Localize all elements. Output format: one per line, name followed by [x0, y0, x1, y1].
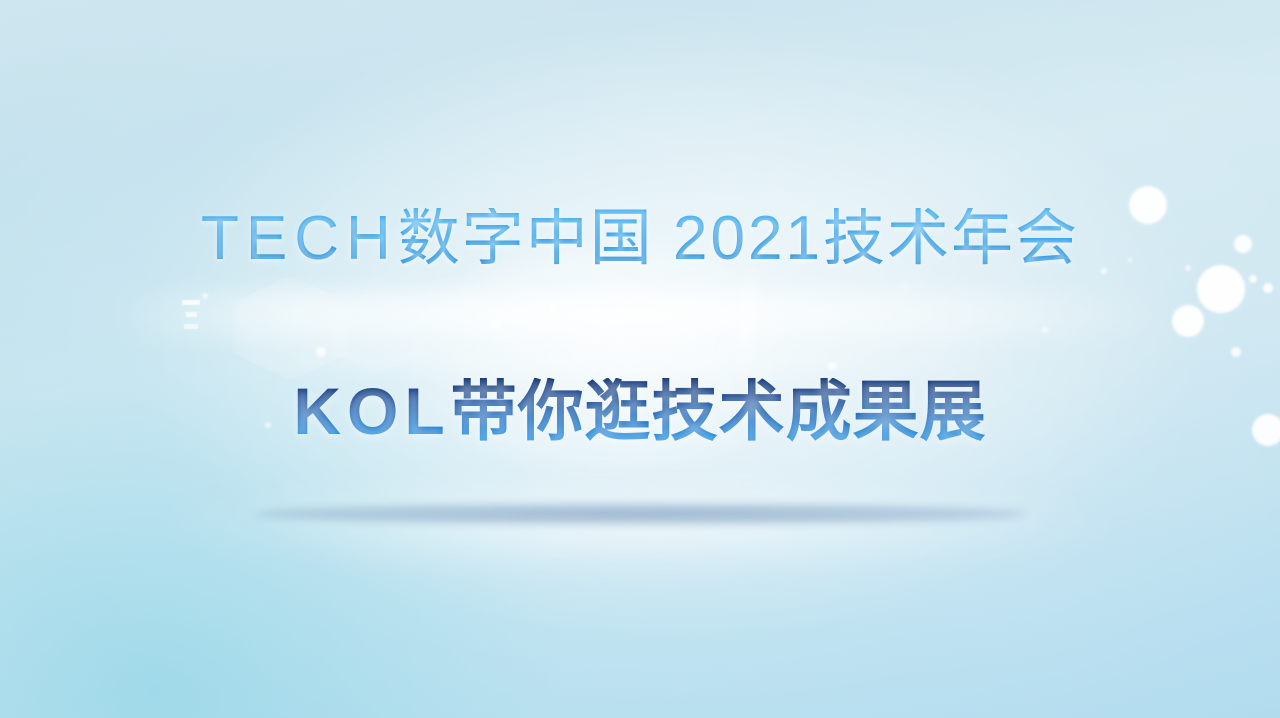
title-year: 2021 [673, 204, 823, 273]
title-card-slide: TECH数字中国 2021技术年会 KOL带你逛技术成果展 [0, 0, 1280, 718]
title-line-primary: TECH数字中国 2021技术年会 [0, 208, 1280, 270]
title-space [654, 204, 673, 273]
title-cn-digital-china: 数字中国 [398, 204, 654, 273]
subtitle-cn-text: 带你逛技术成果展 [451, 374, 987, 448]
title-cn-annual-conference: 技术年会 [823, 204, 1079, 273]
title-latin-tech: TECH [201, 204, 398, 273]
title-line-secondary: KOL带你逛技术成果展 [0, 378, 1280, 444]
subtitle-latin-kol: KOL [293, 374, 450, 448]
title-block: TECH数字中国 2021技术年会 KOL带你逛技术成果展 [0, 0, 1280, 718]
